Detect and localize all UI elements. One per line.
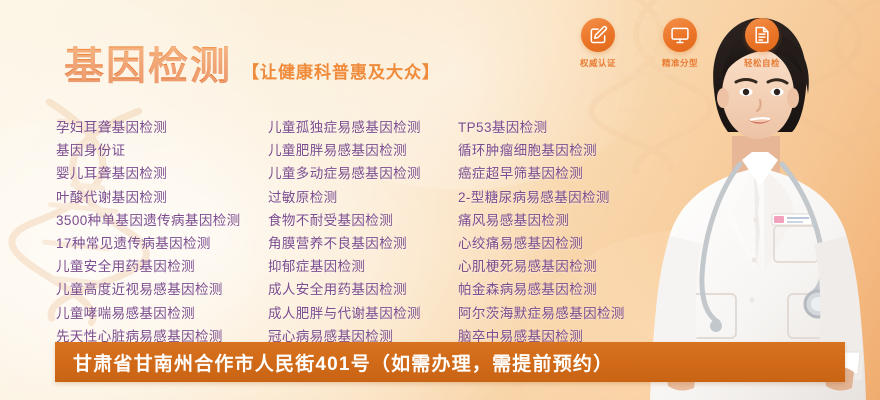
feature-badge-typing[interactable]: 精准分型 [652, 18, 708, 69]
list-item[interactable]: 角膜营养不良基因检测 [268, 232, 458, 255]
list-item[interactable]: 成人安全用药基因检测 [268, 278, 458, 301]
list-item[interactable]: 癌症超早筛基因检测 [458, 162, 678, 185]
feature-badge-label: 精准分型 [662, 57, 698, 69]
list-item[interactable]: 心绞痛易感基因检测 [458, 232, 678, 255]
list-item[interactable]: 过敏原检测 [268, 186, 458, 209]
page-title: 基因检测 [64, 46, 232, 86]
genetic-testing-poster: 基因检测 【让健康科普惠及大众】 权威认证 精准分型 [0, 0, 880, 400]
list-item[interactable]: 孕妇耳聋基因检测 [56, 116, 268, 139]
list-item[interactable]: 循环肿瘤细胞基因检测 [458, 139, 678, 162]
monitor-icon [663, 18, 697, 52]
feature-badge-list: 权威认证 精准分型 轻松自检 [570, 18, 790, 69]
list-item[interactable]: 帕金森病易感基因检测 [458, 278, 678, 301]
list-item[interactable]: 阿尔茨海默症易感基因检测 [458, 302, 678, 325]
address-banner: 甘肃省甘南州合作市人民街401号（如需办理，需提前预约） [55, 342, 845, 382]
service-column-2: 儿童孤独症易感基因检测 儿童肥胖易感基因检测 儿童多动症易感基因检测 过敏原检测… [268, 116, 458, 348]
list-item[interactable]: 3500种单基因遗传病基因检测 [56, 209, 268, 232]
list-item[interactable]: 2-型糖尿病易感基因检测 [458, 186, 678, 209]
service-item-columns: 孕妇耳聋基因检测 基因身份证 婴儿耳聋基因检测 叶酸代谢基因检测 3500种单基… [56, 116, 678, 348]
list-item[interactable]: 抑郁症基因检测 [268, 255, 458, 278]
address-text: 甘肃省甘南州合作市人民街401号（如需办理，需提前预约） [73, 349, 613, 376]
list-item[interactable]: 叶酸代谢基因检测 [56, 186, 268, 209]
edit-pencil-icon [581, 18, 615, 52]
list-item[interactable]: 痛风易感基因检测 [458, 209, 678, 232]
headline-group: 基因检测 【让健康科普惠及大众】 [64, 46, 440, 86]
list-item[interactable]: 儿童高度近视易感基因检测 [56, 278, 268, 301]
list-item[interactable]: 心肌梗死易感基因检测 [458, 255, 678, 278]
list-item[interactable]: 成人肥胖与代谢基因检测 [268, 302, 458, 325]
document-icon [745, 18, 779, 52]
feature-badge-authority[interactable]: 权威认证 [570, 18, 626, 69]
list-item[interactable]: 基因身份证 [56, 139, 268, 162]
page-subtitle: 【让健康科普惠及大众】 [242, 58, 440, 86]
list-item[interactable]: TP53基因检测 [458, 116, 678, 139]
list-item[interactable]: 儿童哮喘易感基因检测 [56, 302, 268, 325]
feature-badge-label: 权威认证 [580, 57, 616, 69]
feature-badge-label: 轻松自检 [744, 57, 780, 69]
list-item[interactable]: 儿童多动症易感基因检测 [268, 162, 458, 185]
list-item[interactable]: 17种常见遗传病基因检测 [56, 232, 268, 255]
feature-badge-selfcheck[interactable]: 轻松自检 [734, 18, 790, 69]
list-item[interactable]: 儿童孤独症易感基因检测 [268, 116, 458, 139]
service-column-1: 孕妇耳聋基因检测 基因身份证 婴儿耳聋基因检测 叶酸代谢基因检测 3500种单基… [56, 116, 268, 348]
service-column-3: TP53基因检测 循环肿瘤细胞基因检测 癌症超早筛基因检测 2-型糖尿病易感基因… [458, 116, 678, 348]
list-item[interactable]: 儿童安全用药基因检测 [56, 255, 268, 278]
dna-helix-watermark-right [784, 0, 880, 162]
list-item[interactable]: 婴儿耳聋基因检测 [56, 162, 268, 185]
list-item[interactable]: 食物不耐受基因检测 [268, 209, 458, 232]
list-item[interactable]: 儿童肥胖易感基因检测 [268, 139, 458, 162]
